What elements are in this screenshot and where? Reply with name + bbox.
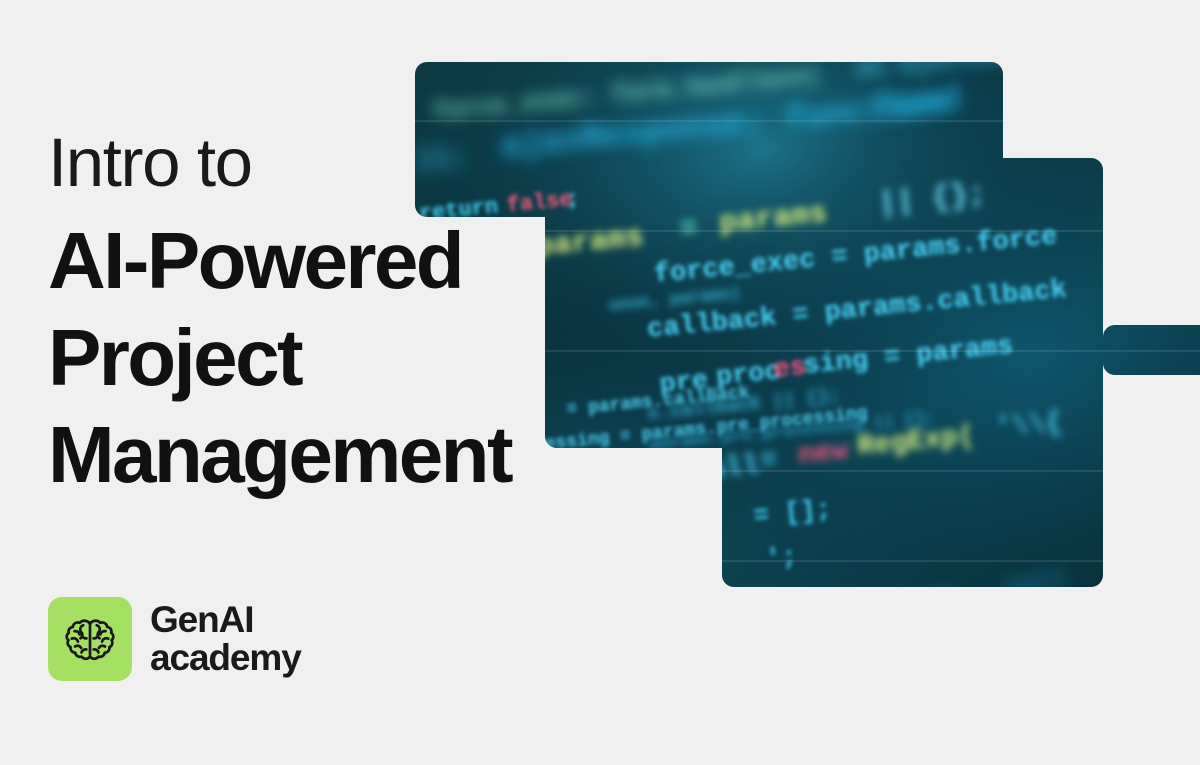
svg-text:'\\{: '\\{ — [994, 407, 1064, 444]
svg-text:proc: proc — [715, 357, 782, 393]
svg-text:=: = — [759, 445, 779, 477]
brain-icon — [61, 614, 119, 664]
course-title-card: force_exec: form.hasClass( an bjectase )… — [0, 0, 1200, 765]
svg-text:an bjectase: an bjectase — [854, 39, 1021, 84]
svg-text:';: '; — [764, 541, 798, 574]
eyebrow-text: Intro to — [48, 128, 708, 197]
svg-text:params: params — [718, 197, 829, 241]
brand-name-line-2: academy — [150, 639, 301, 677]
headline-line-2: Project — [48, 318, 708, 398]
svg-text:|| {};: || {}; — [877, 178, 988, 222]
brand-name: GenAI academy — [150, 601, 301, 678]
svg-text:es: es — [772, 353, 807, 386]
svg-text:force_exec = params.force: force_exec = params.force — [653, 222, 1059, 291]
brand-mark-tile — [48, 597, 132, 681]
svg-text:}}); return: }}); return — [786, 582, 960, 628]
headline-line-3: Management — [48, 415, 708, 495]
svg-text:force_exec: form.hasClass(: force_exec: form.hasClass( — [431, 61, 822, 127]
page-title: AI-Powered Project Management — [48, 221, 708, 495]
brand-name-line-1: GenAI — [150, 601, 301, 639]
svg-text:new: new — [797, 436, 850, 472]
svg-text:call: call — [1004, 566, 1069, 602]
hero-text-block: Intro to AI-Powered Project Management — [48, 128, 708, 495]
svg-text:RegExp(: RegExp( — [856, 421, 976, 463]
svg-text:hand: hand — [877, 81, 962, 127]
svg-text:callback = params.callback: callback = params.callback — [646, 275, 1068, 345]
svg-text:= [];: = []; — [752, 494, 833, 531]
svg-text:sing = params: sing = params — [802, 332, 1015, 382]
brand-lockup: GenAI academy — [48, 597, 301, 681]
headline-line-1: AI-Powered — [48, 221, 708, 301]
